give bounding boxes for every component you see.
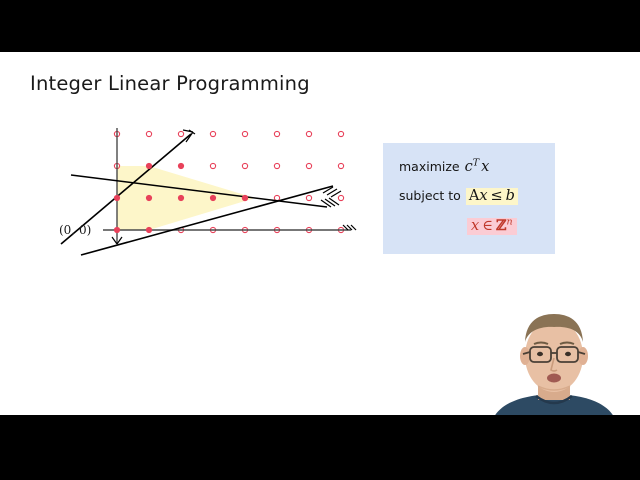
objective-expression-base2: x (481, 159, 489, 175)
origin-label: (0, 0) (59, 223, 91, 237)
constraint-keyword: subject to (399, 188, 461, 203)
letterbox-top (0, 0, 640, 52)
constraint-rhs-b: b (506, 188, 515, 204)
integrality-set-Z: ℤ (496, 217, 507, 234)
diagram-svg: (0, 0) (55, 122, 375, 267)
video-frame: Integer Linear Programming (0, 0, 640, 480)
constraint-expression-highlight: Ax≤b (466, 188, 518, 205)
presenter-mouth (547, 374, 561, 383)
page-title: Integer Linear Programming (30, 72, 310, 95)
constraint-var-x: x (479, 188, 487, 204)
ilp-feasible-region-diagram: (0, 0) (55, 122, 375, 262)
presenter-ear-left (520, 347, 530, 365)
integrality-var-x: x (471, 218, 479, 234)
x-axis-hatch-icon (343, 225, 356, 230)
ilp-formulation-panel: maximizecTx subject toAx≤b x∈ℤn (383, 143, 555, 254)
presenter-video-overlay (468, 300, 640, 428)
letterbox-bottom (0, 415, 640, 480)
presenter-eye-left (537, 352, 543, 356)
presenter-ear-right (578, 347, 588, 365)
formula-row-integrality: x∈ℤn (467, 217, 517, 234)
feasible-region-polygon (117, 166, 255, 230)
integrality-superscript-n: n (507, 217, 513, 228)
constraint-relation: ≤ (491, 188, 503, 204)
formula-row-constraint: subject toAx≤b (399, 188, 518, 204)
objective-expression-superscript: T (473, 158, 479, 169)
constraint-matrix-A: A (469, 188, 479, 204)
integrality-expression-highlight: x∈ℤn (467, 218, 517, 235)
integrality-relation: ∈ (482, 218, 493, 234)
constraint-line-upper-hatch-icon (321, 198, 339, 207)
presenter-figure (468, 300, 640, 428)
presenter-eye-right (565, 352, 571, 356)
objective-keyword: maximize (399, 159, 460, 174)
objective-expression-base1: c (465, 159, 473, 175)
formula-row-objective: maximizecTx (399, 159, 489, 175)
